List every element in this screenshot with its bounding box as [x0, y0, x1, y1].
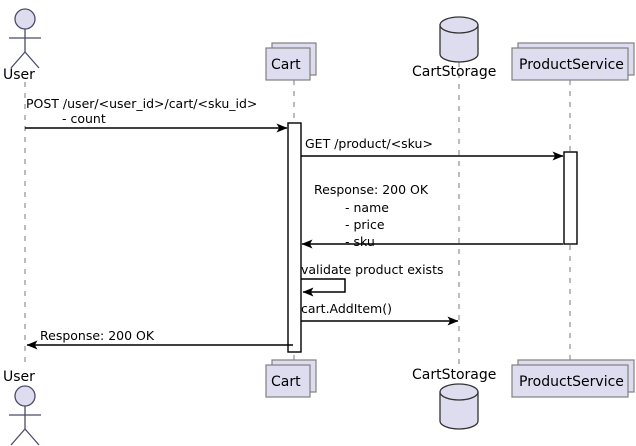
participant-label-cart-top: Cart — [271, 57, 301, 73]
message-label-m3-line4: - sku — [345, 234, 375, 249]
participant-label-productservice-top: ProductService — [519, 57, 624, 73]
actor-leg-left — [11, 52, 25, 68]
message-cart-additem[interactable]: cart.AddItem() — [301, 301, 458, 321]
activation-bar-productservice — [564, 152, 577, 244]
participant-cart-bottom[interactable]: Cart — [266, 360, 316, 397]
actor-head-icon — [15, 9, 35, 29]
message-label-m6-line1: Response: 200 OK — [40, 328, 155, 343]
message-get-product[interactable]: GET /product/<sku> — [301, 136, 563, 156]
sequence-diagram-canvas: User Cart CartStorage ProductService POS… — [0, 0, 636, 446]
participant-label-cartstorage-top: CartStorage — [412, 64, 496, 80]
message-response-user[interactable]: Response: 200 OK — [27, 328, 293, 345]
message-label-m3-line2: - name — [345, 200, 389, 215]
activation-bar-cart — [288, 123, 301, 352]
message-label-m3-line1: Response: 200 OK — [314, 182, 429, 197]
message-label-m2-line1: GET /product/<sku> — [305, 136, 433, 151]
actor-head-icon-bottom — [15, 386, 35, 406]
actor-leg-right — [25, 52, 39, 68]
message-label-m5-line1: cart.AddItem() — [301, 301, 392, 316]
message-label-m3-line3: - price — [345, 217, 385, 232]
participant-productservice-bottom[interactable]: ProductService — [512, 360, 634, 397]
message-validate-product-self[interactable]: validate product exists — [301, 262, 443, 292]
participant-cartstorage-bottom[interactable]: CartStorage — [412, 367, 496, 429]
database-top-icon-bottom — [440, 384, 478, 400]
participant-user-bottom[interactable]: User — [3, 369, 41, 445]
message-self-loop-m4 — [301, 279, 345, 292]
activation-bars — [288, 123, 577, 352]
message-label-m1-line1: POST /user/<user_id>/cart/<sku_id> — [26, 96, 257, 111]
message-label-m4-line1: validate product exists — [301, 262, 443, 277]
message-label-m1-line2: - count — [62, 111, 106, 126]
actor-leg-right-bottom — [25, 429, 39, 445]
message-post-user-cart[interactable]: POST /user/<user_id>/cart/<sku_id> - cou… — [25, 96, 287, 128]
participant-label-cartstorage-bottom: CartStorage — [412, 367, 496, 383]
participant-productservice-top[interactable]: ProductService — [512, 43, 634, 80]
participant-label-productservice-bottom: ProductService — [519, 374, 624, 390]
participant-label-user-bottom: User — [3, 369, 35, 385]
database-top-icon — [440, 17, 478, 33]
diagram-svg: User Cart CartStorage ProductService POS… — [0, 0, 636, 446]
participant-cartstorage-top[interactable]: CartStorage — [412, 17, 496, 80]
participant-label-cart-bottom: Cart — [271, 374, 301, 390]
actor-leg-left-bottom — [11, 429, 25, 445]
message-response-product[interactable]: Response: 200 OK - name - price - sku — [302, 182, 563, 249]
participant-cart-top[interactable]: Cart — [266, 43, 316, 80]
participant-label-user-top: User — [3, 67, 35, 83]
participant-user-top[interactable]: User — [3, 9, 41, 83]
